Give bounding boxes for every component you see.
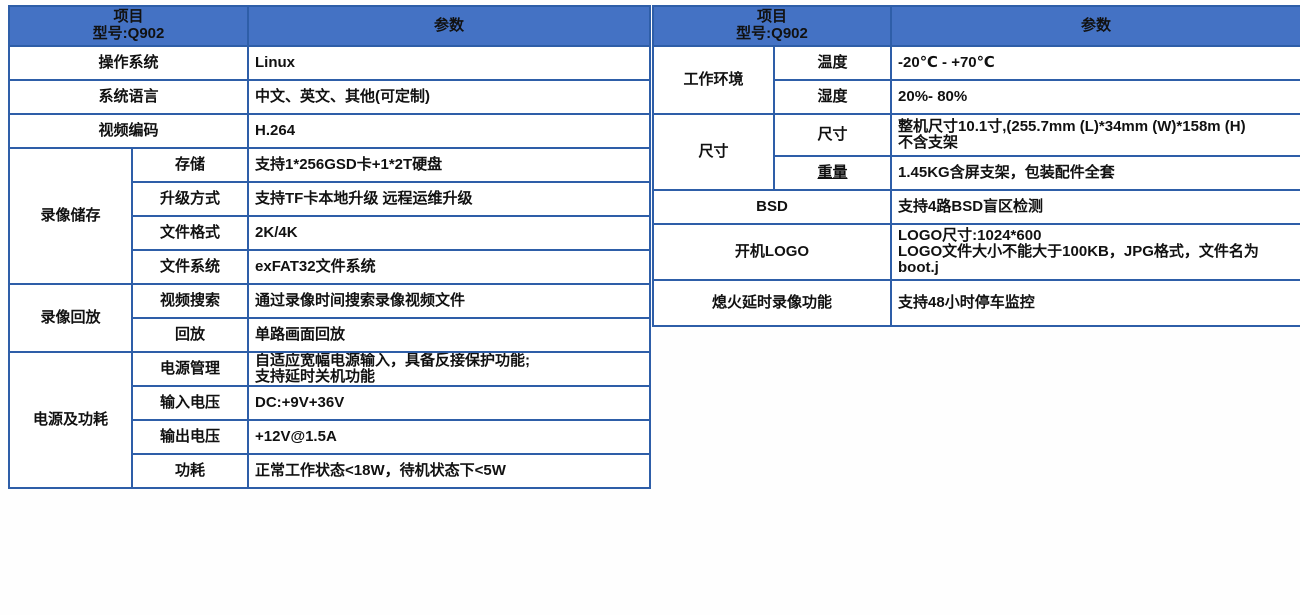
row-value: 单路画面回放 xyxy=(248,318,650,352)
row-value: 中文、英文、其他(可定制) xyxy=(248,80,650,114)
row-category-dimension: 尺寸 xyxy=(653,114,774,190)
spec-sheet: 项目 型号:Q902 参数 操作系统 Linux 系统语言 中文、英文、其他(可… xyxy=(0,0,1300,615)
row-category: 操作系统 xyxy=(9,46,248,80)
table-row: 录像回放 视频搜索 通过录像时间搜索录像视频文件 xyxy=(9,284,650,318)
header-model-label: 型号:Q902 xyxy=(660,26,884,43)
row-sublabel: 文件格式 xyxy=(132,216,248,250)
table-row: 录像储存 存储 支持1*256GSD卡+1*2T硬盘 xyxy=(9,148,650,182)
row-category-parking-record: 熄火延时录像功能 xyxy=(653,280,891,326)
row-sublabel: 尺寸 xyxy=(774,114,891,156)
row-value: H.264 xyxy=(248,114,650,148)
table-row: 熄火延时录像功能 支持48小时停车监控 xyxy=(653,280,1300,326)
table-row: 视频编码 H.264 xyxy=(9,114,650,148)
header-item-label: 项目 xyxy=(16,9,241,26)
row-value: Linux xyxy=(248,46,650,80)
row-value: +12V@1.5A xyxy=(248,420,650,454)
header-model-label: 型号:Q902 xyxy=(16,26,241,43)
row-category-bsd: BSD xyxy=(653,190,891,224)
row-value: 1.45KG含屏支架，包装配件全套 xyxy=(891,156,1300,190)
header-item-cell: 项目 型号:Q902 xyxy=(653,6,891,46)
row-value: 支持4路BSD盲区检测 xyxy=(891,190,1300,224)
table-row: BSD 支持4路BSD盲区检测 xyxy=(653,190,1300,224)
row-value: LOGO尺寸:1024*600 LOGO文件大小不能大于100KB，JPG格式，… xyxy=(891,224,1300,280)
header-item-label: 项目 xyxy=(660,9,884,26)
row-sublabel: 功耗 xyxy=(132,454,248,488)
table-row: 开机LOGO LOGO尺寸:1024*600 LOGO文件大小不能大于100KB… xyxy=(653,224,1300,280)
table-row: 电源及功耗 电源管理 自适应宽幅电源输入，具备反接保护功能; 支持延时关机功能 xyxy=(9,352,650,386)
row-value: 支持TF卡本地升级 远程运维升级 xyxy=(248,182,650,216)
row-sublabel: 输出电压 xyxy=(132,420,248,454)
table-row: 操作系统 Linux xyxy=(9,46,650,80)
row-category: 系统语言 xyxy=(9,80,248,114)
row-sublabel-weight: 重量 xyxy=(774,156,891,190)
row-category-storage: 录像储存 xyxy=(9,148,132,284)
row-value: 自适应宽幅电源输入，具备反接保护功能; 支持延时关机功能 xyxy=(248,352,650,386)
table-header-row: 项目 型号:Q902 参数 xyxy=(9,6,650,46)
row-value: exFAT32文件系统 xyxy=(248,250,650,284)
row-sublabel: 视频搜索 xyxy=(132,284,248,318)
row-value: 整机尺寸10.1寸,(255.7mm (L)*34mm (W)*158m (H)… xyxy=(891,114,1300,156)
row-value: 正常工作状态<18W，待机状态下<5W xyxy=(248,454,650,488)
row-category-playback: 录像回放 xyxy=(9,284,132,352)
row-value: -20℃ - +70℃ xyxy=(891,46,1300,80)
row-value: 2K/4K xyxy=(248,216,650,250)
header-item-cell: 项目 型号:Q902 xyxy=(9,6,248,46)
row-sublabel: 温度 xyxy=(774,46,891,80)
table-header-row: 项目 型号:Q902 参数 xyxy=(653,6,1300,46)
row-category-environment: 工作环境 xyxy=(653,46,774,114)
row-value: 20%- 80% xyxy=(891,80,1300,114)
row-category-power: 电源及功耗 xyxy=(9,352,132,488)
table-row: 系统语言 中文、英文、其他(可定制) xyxy=(9,80,650,114)
row-value: 通过录像时间搜索录像视频文件 xyxy=(248,284,650,318)
table-row: 尺寸 尺寸 整机尺寸10.1寸,(255.7mm (L)*34mm (W)*15… xyxy=(653,114,1300,156)
row-sublabel: 升级方式 xyxy=(132,182,248,216)
row-category-boot-logo: 开机LOGO xyxy=(653,224,891,280)
left-spec-table: 项目 型号:Q902 参数 操作系统 Linux 系统语言 中文、英文、其他(可… xyxy=(8,5,651,489)
row-sublabel: 存储 xyxy=(132,148,248,182)
row-sublabel: 回放 xyxy=(132,318,248,352)
row-value: 支持1*256GSD卡+1*2T硬盘 xyxy=(248,148,650,182)
right-spec-table: 项目 型号:Q902 参数 工作环境 温度 -20℃ - +70℃ 湿度 20%… xyxy=(652,5,1300,327)
row-sublabel: 电源管理 xyxy=(132,352,248,386)
row-value: DC:+9V+36V xyxy=(248,386,650,420)
row-category: 视频编码 xyxy=(9,114,248,148)
row-sublabel: 输入电压 xyxy=(132,386,248,420)
header-parameter-cell: 参数 xyxy=(891,6,1300,46)
row-sublabel: 文件系统 xyxy=(132,250,248,284)
header-parameter-cell: 参数 xyxy=(248,6,650,46)
row-value: 支持48小时停车监控 xyxy=(891,280,1300,326)
row-sublabel: 湿度 xyxy=(774,80,891,114)
table-row: 工作环境 温度 -20℃ - +70℃ xyxy=(653,46,1300,80)
